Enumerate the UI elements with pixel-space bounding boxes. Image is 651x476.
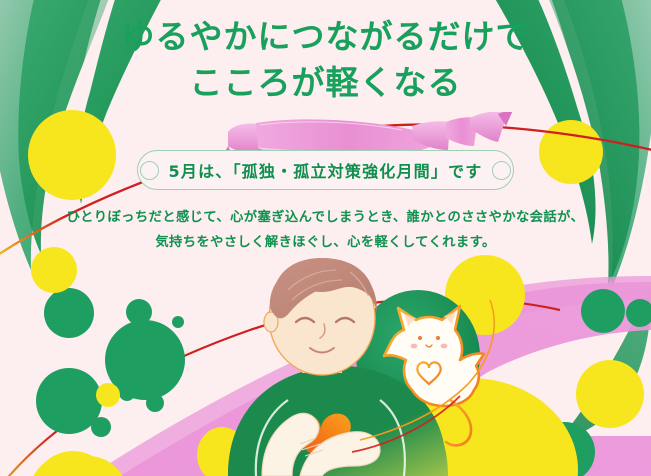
body-line-1: ひとりぼっちだと感じて、心が塞ぎ込んでしまうとき、誰かとのささやかな会話が、 bbox=[0, 206, 651, 231]
circle-outline-icon-left bbox=[140, 161, 159, 180]
headline-line-1: ゆるやかにつながるだけで bbox=[0, 14, 651, 60]
body-text: ひとりぼっちだと感じて、心が塞ぎ込んでしまうとき、誰かとのささやかな会話が、 気… bbox=[0, 206, 651, 255]
circle-outline-icon-right bbox=[492, 161, 511, 180]
body-line-2: 気持ちをやさしく解きほぐし、心を軽くしてくれます。 bbox=[0, 231, 651, 256]
page-title: ゆるやかにつながるだけで こころが軽くなる bbox=[0, 14, 651, 105]
poster-canvas: ゆるやかにつながるだけで こころが軽くなる bbox=[0, 0, 651, 476]
illus-cat-eye-left bbox=[418, 336, 422, 340]
status-badge-label: 5月は、「孤独・孤立対策強化月間」です bbox=[169, 158, 483, 182]
status-badge: 5月は、「孤独・孤立対策強化月間」です bbox=[137, 150, 514, 190]
headline-line-2: こころが軽くなる bbox=[0, 60, 651, 106]
illus-cat-eye-right bbox=[436, 336, 440, 340]
